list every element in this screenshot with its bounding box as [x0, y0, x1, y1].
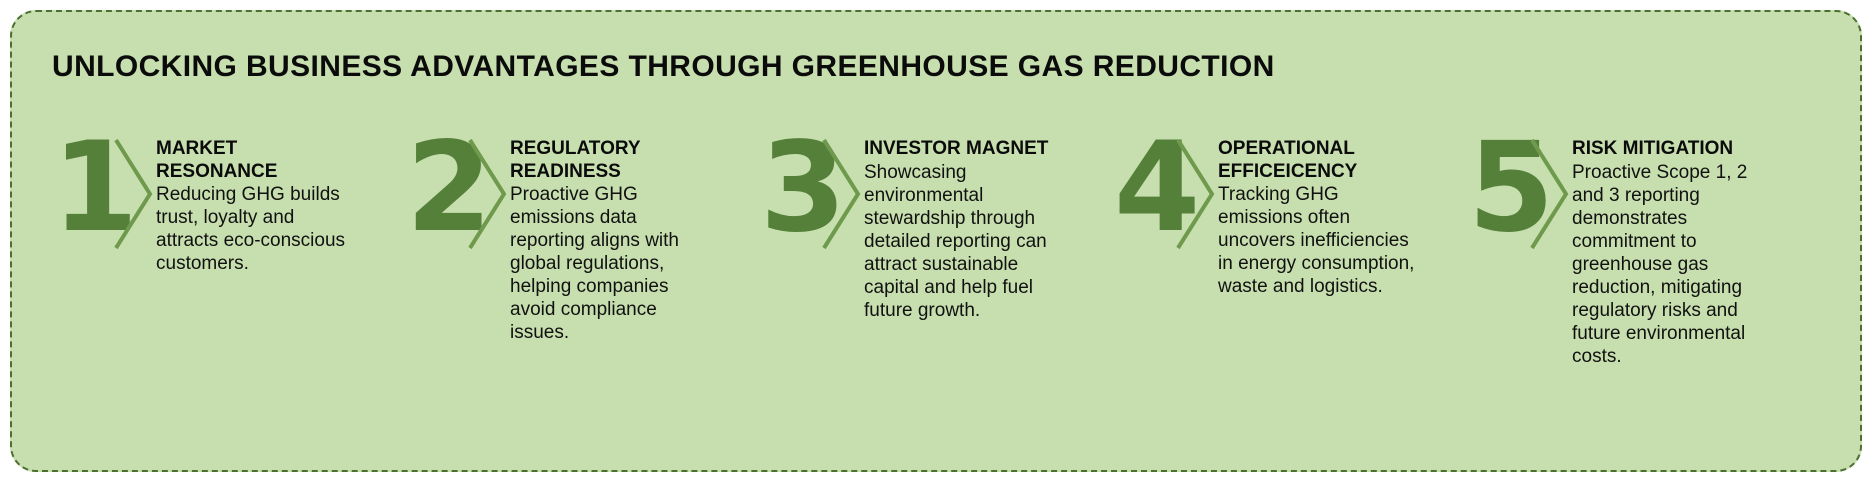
numeral-block-2: 2: [406, 130, 510, 258]
benefit-column-4: 4 OPERATIONAL EFFICEICENCY Tracking GHG …: [1114, 130, 1468, 298]
chevron-right-bracket-icon: [464, 136, 510, 252]
column-heading: OPERATIONAL EFFICEICENCY: [1218, 138, 1418, 183]
numeral-block-4: 4: [1114, 130, 1218, 258]
benefit-columns: 1 MARKET RESONANCE Reducing GHG builds t…: [52, 130, 1822, 368]
benefit-column-2: 2 REGULATORY READINESS Proactive GHG emi…: [406, 130, 760, 344]
numeral-block-3: 3: [760, 130, 864, 258]
numeral-block-1: 1: [52, 130, 156, 258]
column-text-3: INVESTOR MAGNET Showcasing environmental…: [864, 130, 1064, 322]
column-body: Proactive Scope 1, 2 and 3 reporting dem…: [1572, 161, 1772, 368]
column-body: Reducing GHG builds trust, loyalty and a…: [156, 183, 356, 275]
column-text-4: OPERATIONAL EFFICEICENCY Tracking GHG em…: [1218, 130, 1418, 298]
benefit-column-1: 1 MARKET RESONANCE Reducing GHG builds t…: [52, 130, 406, 275]
column-text-1: MARKET RESONANCE Reducing GHG builds tru…: [156, 130, 356, 275]
column-heading: INVESTOR MAGNET: [864, 138, 1064, 161]
benefit-column-3: 3 INVESTOR MAGNET Showcasing environment…: [760, 130, 1114, 322]
column-body: Tracking GHG emissions often uncovers in…: [1218, 183, 1418, 298]
column-heading: RISK MITIGATION: [1572, 138, 1772, 161]
column-body: Proactive GHG emissions data reporting a…: [510, 183, 710, 344]
benefit-column-5: 5 RISK MITIGATION Proactive Scope 1, 2 a…: [1468, 130, 1822, 368]
infographic-panel: UNLOCKING BUSINESS ADVANTAGES THROUGH GR…: [10, 10, 1862, 472]
column-text-2: REGULATORY READINESS Proactive GHG emiss…: [510, 130, 710, 344]
column-heading: REGULATORY READINESS: [510, 138, 710, 183]
chevron-right-bracket-icon: [1172, 136, 1218, 252]
column-text-5: RISK MITIGATION Proactive Scope 1, 2 and…: [1572, 130, 1772, 368]
column-heading: MARKET RESONANCE: [156, 138, 356, 183]
numeral-block-5: 5: [1468, 130, 1572, 258]
chevron-right-bracket-icon: [1526, 136, 1572, 252]
column-body: Showcasing environmental stewardship thr…: [864, 161, 1064, 322]
page-title: UNLOCKING BUSINESS ADVANTAGES THROUGH GR…: [52, 50, 1275, 84]
chevron-right-bracket-icon: [818, 136, 864, 252]
chevron-right-bracket-icon: [110, 136, 156, 252]
